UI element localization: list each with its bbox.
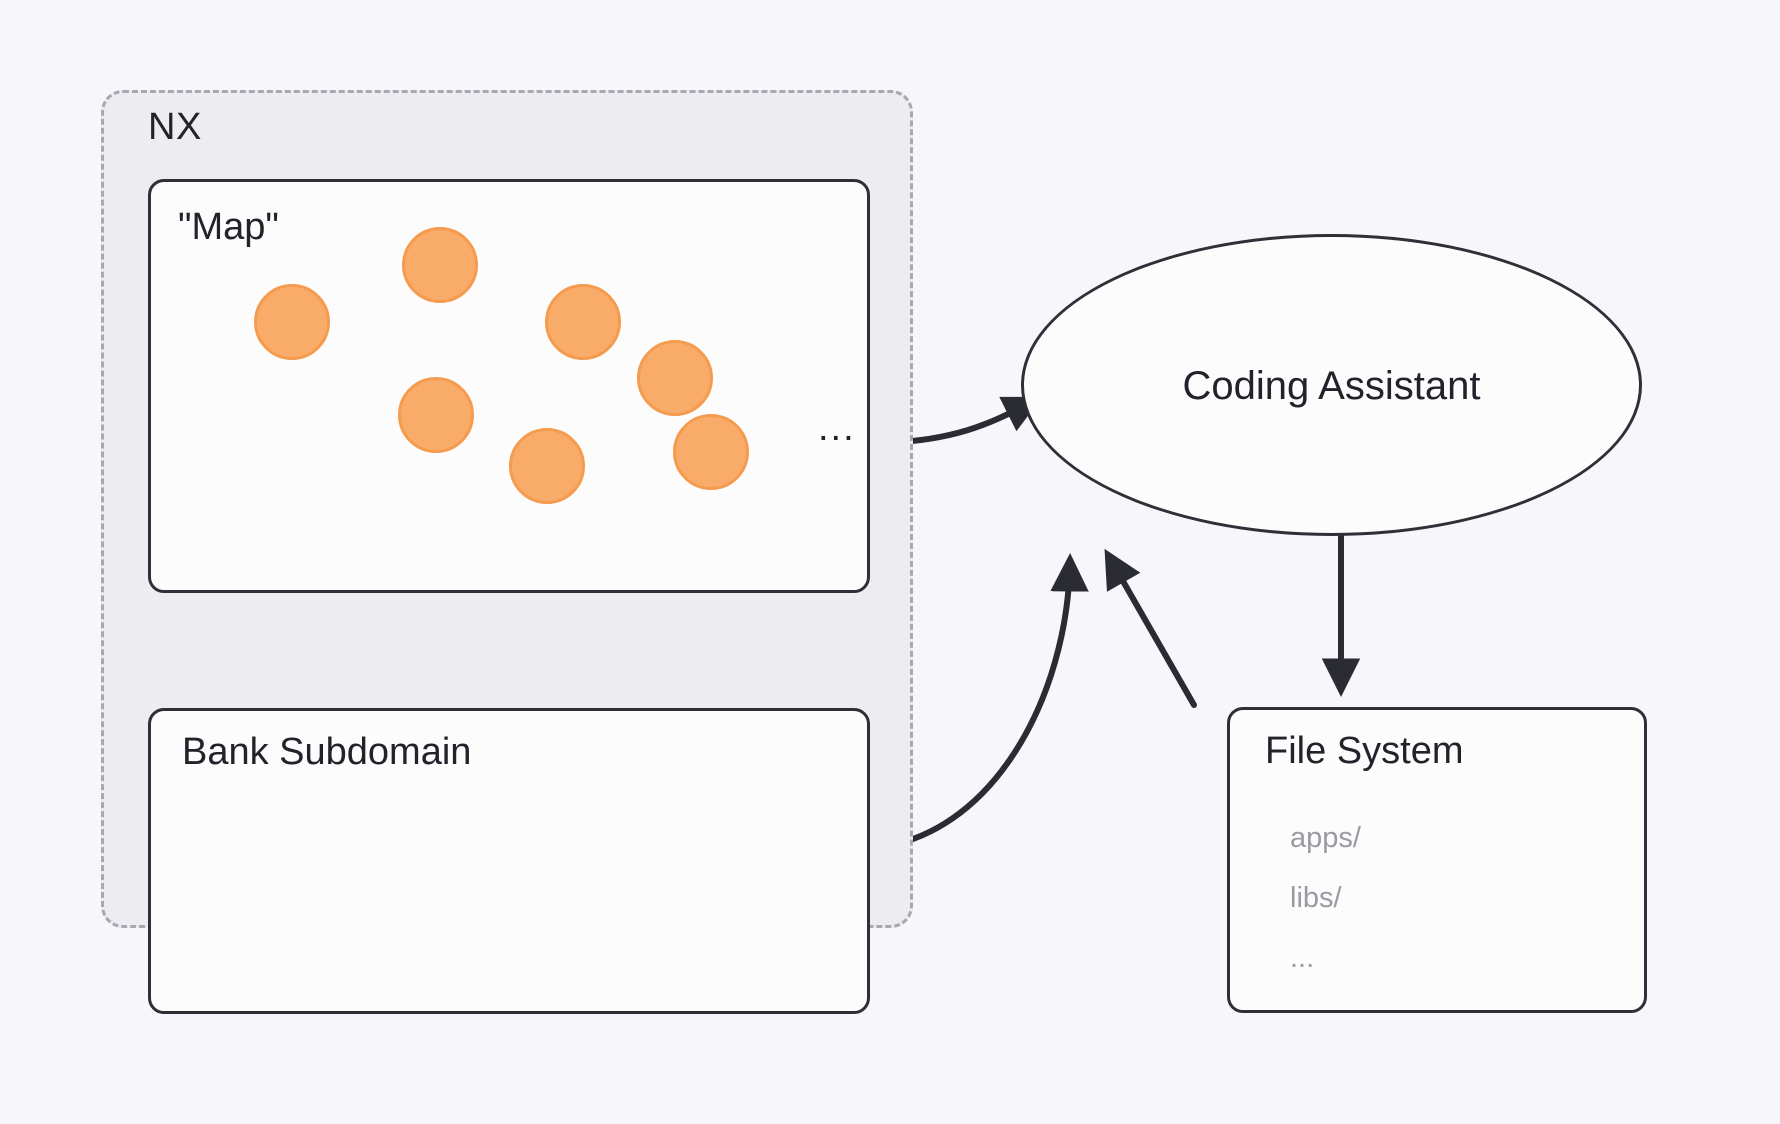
graph-node[interactable]: [545, 284, 621, 360]
file-system-title: File System: [1265, 730, 1463, 773]
graph-node[interactable]: [637, 340, 713, 416]
map-graph-ellipsis: ...: [818, 418, 856, 438]
nx-container-label: NX: [148, 106, 202, 149]
file-system-entry-list: apps/ libs/ ...: [1290, 808, 1620, 988]
map-card-title: "Map": [178, 206, 279, 249]
graph-node[interactable]: [254, 284, 330, 360]
coding-assistant-label: Coding Assistant: [1021, 364, 1642, 409]
connector-filesystem-to-assistant: [1108, 555, 1194, 705]
graph-node[interactable]: [398, 377, 474, 453]
file-system-entry: apps/: [1290, 808, 1620, 868]
graph-node[interactable]: [509, 428, 585, 504]
file-system-entry: ...: [1290, 928, 1620, 988]
bank-subdomain-title: Bank Subdomain: [182, 731, 471, 774]
diagram-canvas: NX "Map" ... Bank Subdomain Coding Assis…: [0, 0, 1780, 1124]
graph-node[interactable]: [673, 414, 749, 490]
graph-node[interactable]: [402, 227, 478, 303]
file-system-entry: libs/: [1290, 868, 1620, 928]
